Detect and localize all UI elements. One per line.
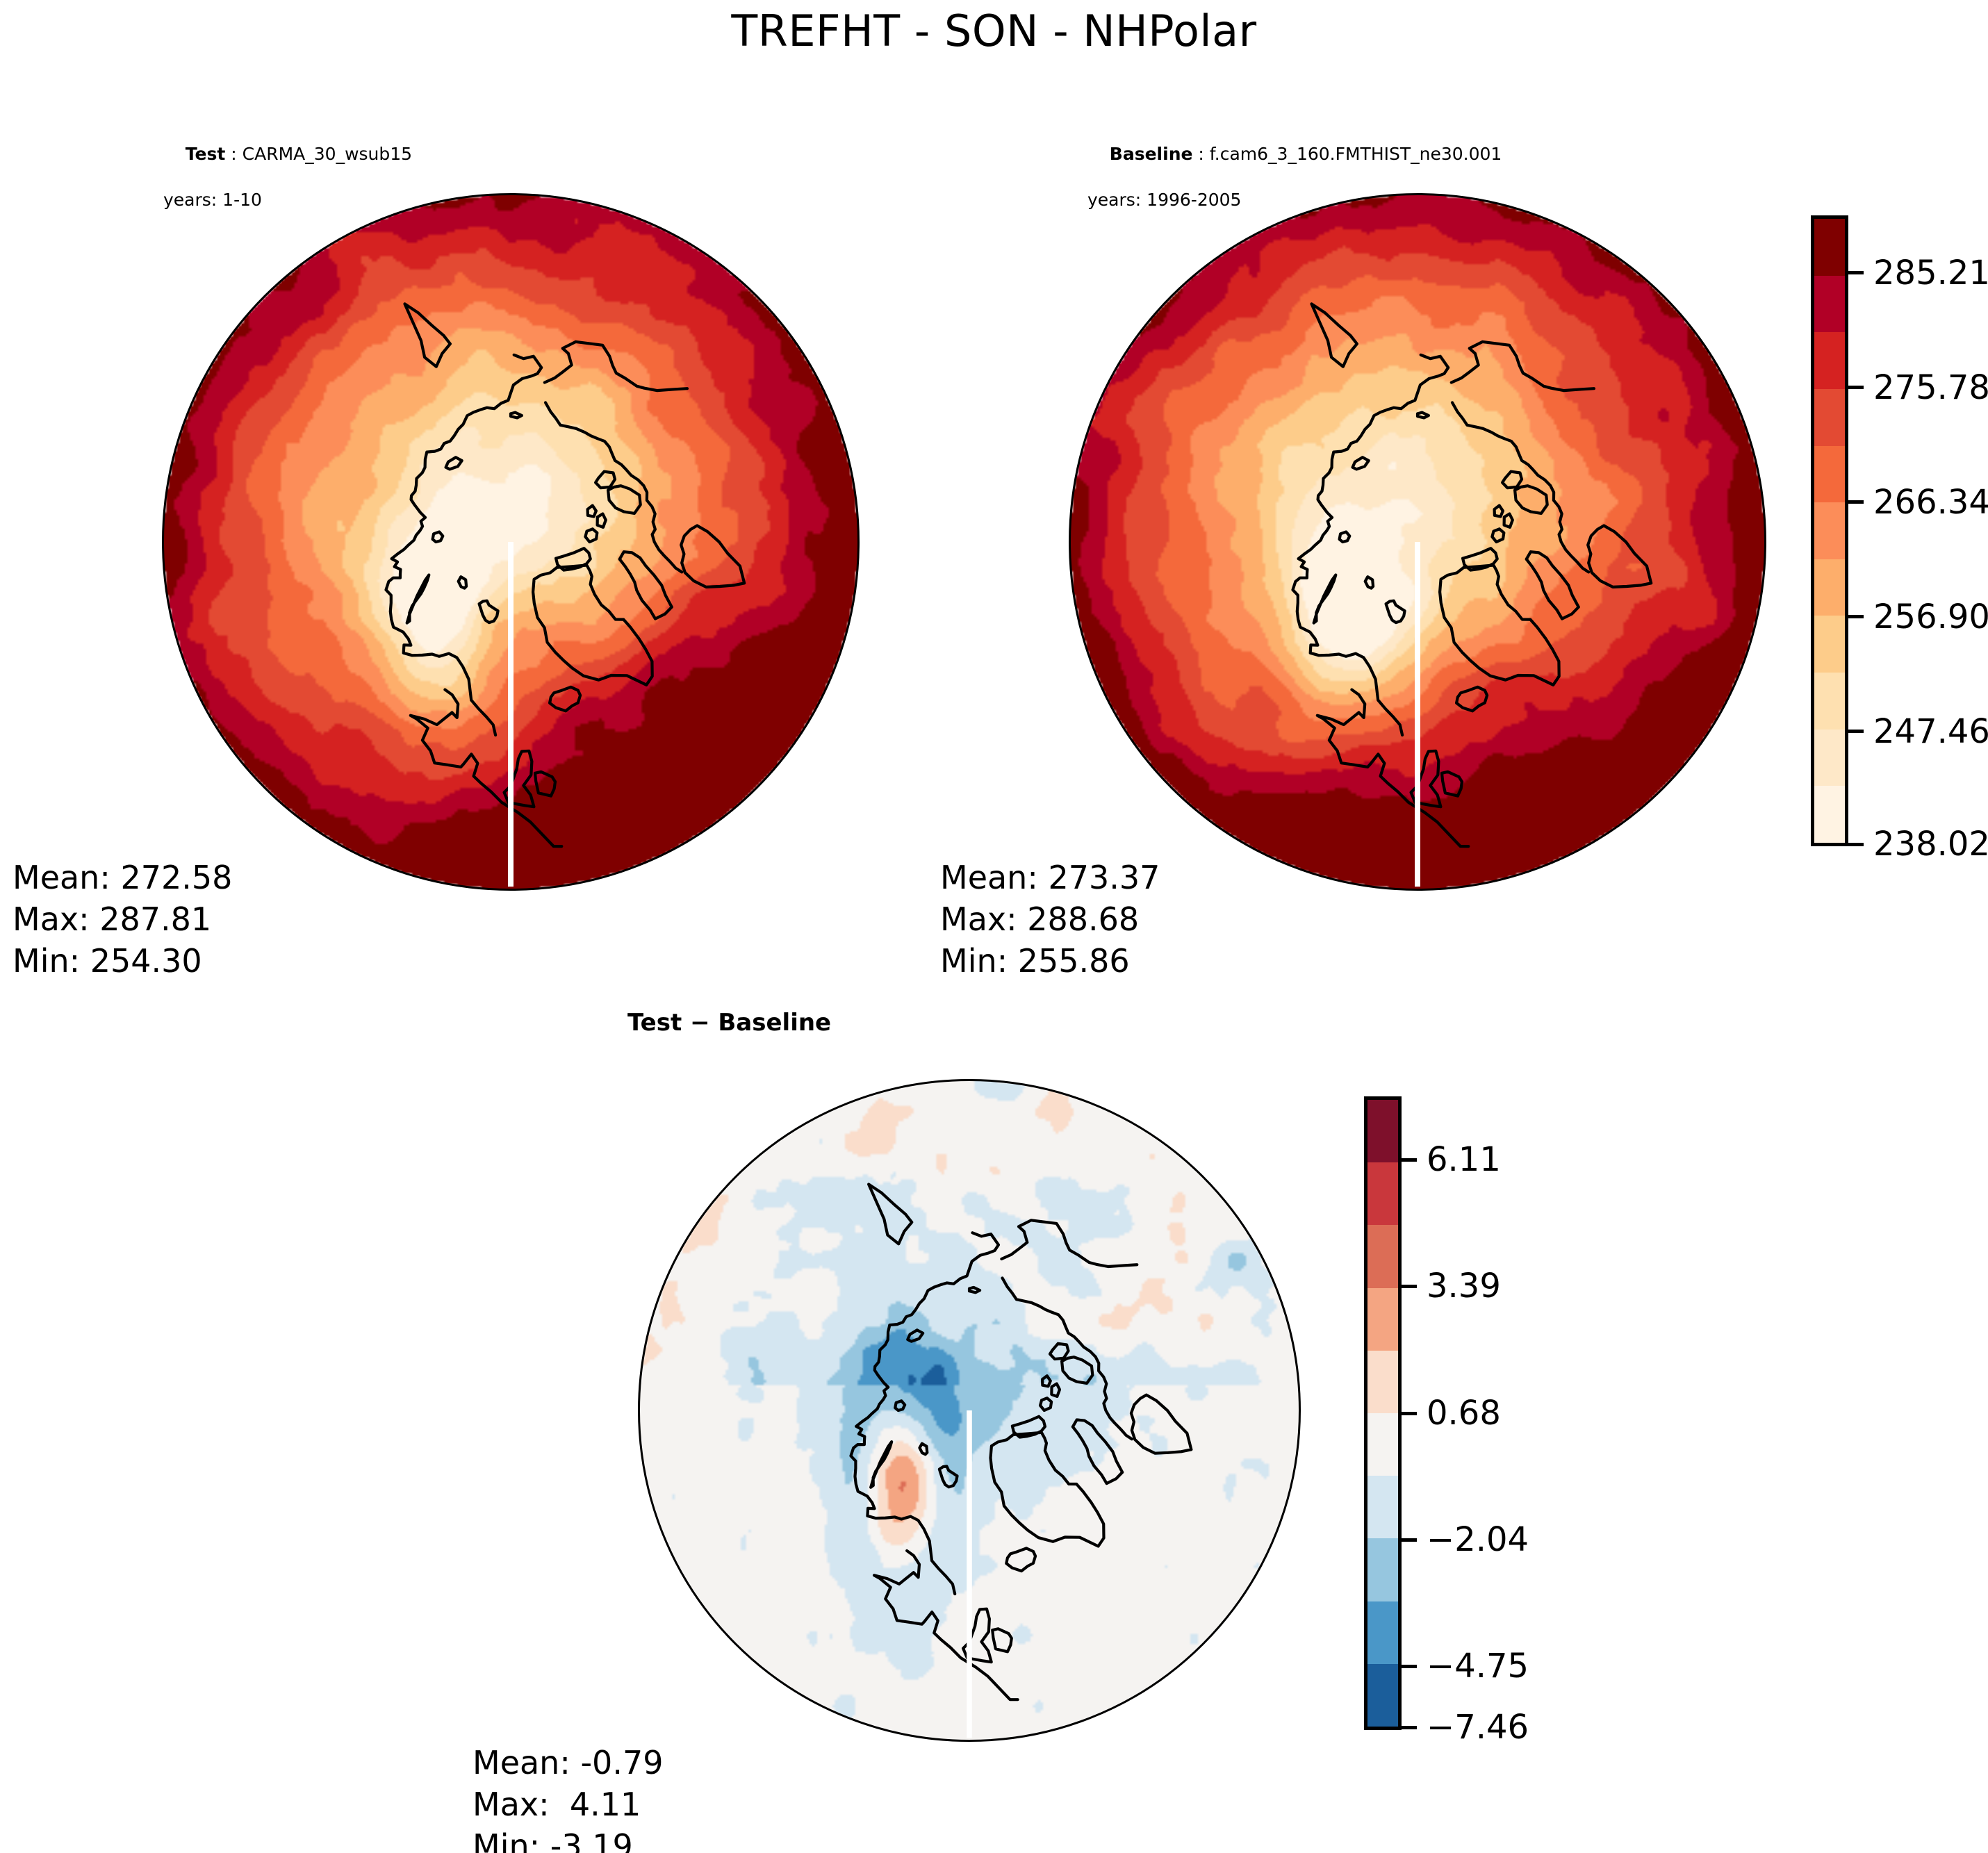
colorbar-band-1: [1367, 1162, 1398, 1225]
baseline-label: Baseline: [1110, 144, 1193, 164]
colorbar-tick-3: −2.04: [1402, 1523, 1529, 1556]
colorbar-band-7: [1814, 616, 1845, 673]
colorbar-tick-label: 0.68: [1427, 1397, 1501, 1430]
test-stats: Mean: 272.58 Max: 287.81 Min: 254.30: [13, 857, 232, 982]
colorbar-tick-label: 256.90: [1873, 600, 1988, 634]
colorbar-band-9: [1367, 1664, 1398, 1727]
colorbar-band-6: [1814, 559, 1845, 616]
test-case-name: CARMA_30_wsub15: [243, 144, 412, 164]
baseline-stats: Mean: 273.37 Max: 288.68 Min: 255.86: [940, 857, 1160, 982]
colorbar-tick-5: 238.02: [1848, 827, 1988, 861]
colorbar-tick-1: 275.78: [1848, 371, 1988, 404]
figure-title: TREFHT - SON - NHPolar: [0, 6, 1988, 56]
colorbar-band-7: [1367, 1538, 1398, 1601]
colorbar-band-8: [1367, 1601, 1398, 1664]
colorbar-tick-2: 0.68: [1402, 1397, 1501, 1430]
colorbar-band-9: [1814, 730, 1845, 787]
test-separator: :: [225, 144, 242, 164]
tick-dash-icon: [1402, 1412, 1417, 1415]
baseline-case-name: f.cam6_3_160.FMTHIST_ne30.001: [1210, 144, 1502, 164]
colorbar-tick-label: 238.02: [1873, 827, 1988, 861]
colorbar-tick-0: 6.11: [1402, 1143, 1501, 1176]
colorbar-band-6: [1367, 1476, 1398, 1538]
colorbar-band-5: [1367, 1413, 1398, 1476]
colorbar-tick-label: −4.75: [1427, 1649, 1529, 1683]
colorbar-tick-label: 275.78: [1873, 371, 1988, 404]
colorbar-band-0: [1367, 1100, 1398, 1162]
test-label: Test: [186, 144, 226, 164]
test-map-plot: [163, 195, 858, 889]
colorbar-tick-label: 247.46: [1873, 715, 1988, 748]
tick-dash-icon: [1848, 386, 1864, 389]
figure-canvas: TREFHT - SON - NHPolar Test : CARMA_30_w…: [0, 0, 1988, 1853]
colorbar-band-3: [1814, 389, 1845, 446]
colorbar-band-4: [1814, 446, 1845, 503]
test-map-coastlines: [163, 195, 858, 889]
colorbar-tick-0: 285.21: [1848, 256, 1988, 290]
colorbar-tick-label: 3.39: [1427, 1269, 1501, 1303]
baseline-map-plot: [1070, 195, 1765, 889]
difference-map-plot: [639, 1080, 1299, 1740]
main-colorbar[interactable]: [1811, 215, 1848, 846]
colorbar-band-2: [1367, 1225, 1398, 1287]
tick-dash-icon: [1402, 1538, 1417, 1542]
colorbar-band-2: [1814, 332, 1845, 389]
tick-dash-icon: [1848, 730, 1864, 733]
colorbar-tick-label: −2.04: [1427, 1523, 1529, 1556]
tick-dash-icon: [1402, 1285, 1417, 1288]
difference-colorbar-ticks: 6.113.390.68−2.04−4.75−7.46: [1402, 1096, 1541, 1730]
difference-panel-title: Test − Baseline: [627, 1009, 831, 1037]
colorbar-tick-4: −4.75: [1402, 1649, 1529, 1683]
colorbar-band-3: [1367, 1288, 1398, 1351]
colorbar-tick-label: 266.34: [1873, 486, 1988, 519]
colorbar-tick-5: −7.46: [1402, 1711, 1529, 1744]
colorbar-tick-label: 285.21: [1873, 256, 1988, 290]
difference-stats: Mean: -0.79 Max: 4.11 Min: -3.19: [473, 1743, 663, 1853]
tick-dash-icon: [1848, 843, 1864, 846]
difference-colorbar[interactable]: [1364, 1096, 1402, 1730]
baseline-map-coastlines: [1070, 195, 1765, 889]
baseline-separator: :: [1192, 144, 1209, 164]
colorbar-band-1: [1814, 276, 1845, 333]
tick-dash-icon: [1848, 500, 1864, 504]
tick-dash-icon: [1402, 1726, 1417, 1729]
colorbar-tick-4: 247.46: [1848, 715, 1988, 748]
colorbar-tick-2: 266.34: [1848, 486, 1988, 519]
colorbar-band-4: [1367, 1351, 1398, 1413]
colorbar-tick-label: −7.46: [1427, 1711, 1529, 1744]
tick-dash-icon: [1402, 1158, 1417, 1162]
colorbar-band-8: [1814, 673, 1845, 730]
colorbar-tick-1: 3.39: [1402, 1269, 1501, 1303]
colorbar-tick-3: 256.90: [1848, 600, 1988, 634]
colorbar-band-5: [1814, 502, 1845, 559]
colorbar-band-10: [1814, 786, 1845, 843]
tick-dash-icon: [1402, 1665, 1417, 1668]
colorbar-tick-label: 6.11: [1427, 1143, 1501, 1176]
difference-map-coastlines: [639, 1080, 1299, 1740]
colorbar-band-0: [1814, 219, 1845, 276]
main-colorbar-ticks: 285.21275.78266.34256.90247.46238.02: [1848, 215, 1987, 846]
tick-dash-icon: [1848, 271, 1864, 274]
tick-dash-icon: [1848, 615, 1864, 618]
